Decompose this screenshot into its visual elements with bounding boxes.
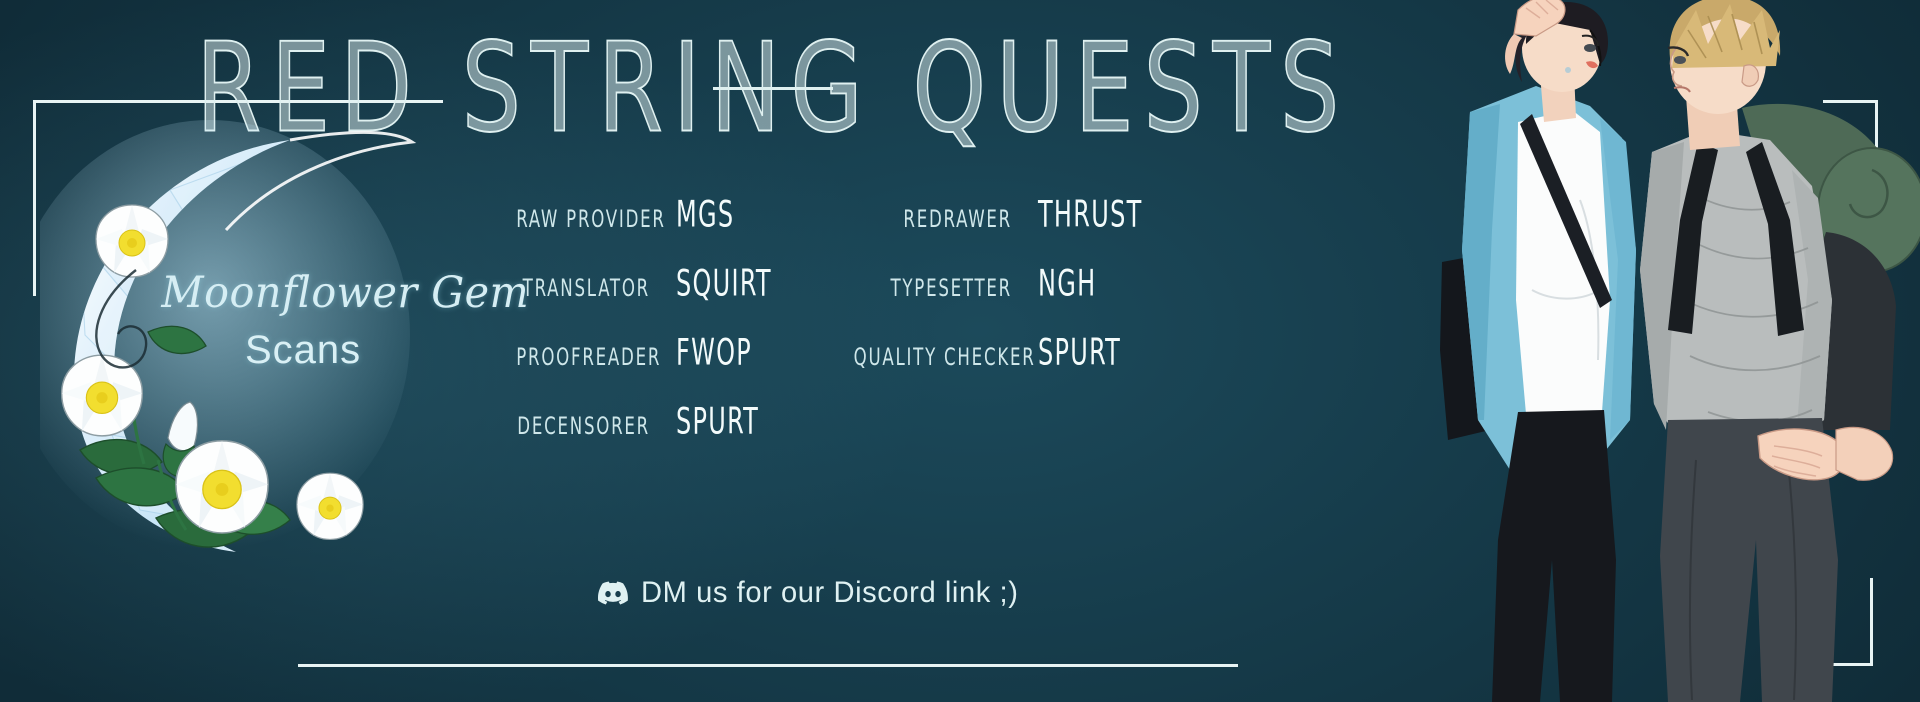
credit-role: REDRAWER xyxy=(854,205,1012,233)
frame-bottom-horizontal-rule xyxy=(298,664,1238,667)
dark-haired-character xyxy=(1440,0,1636,702)
discord-invite[interactable]: DM us for our Discord link ;) xyxy=(598,576,1030,610)
blond-character xyxy=(1640,0,1920,702)
credit-name: NGH xyxy=(1038,263,1096,305)
credit-role: QUALITY CHECKER xyxy=(854,343,1012,371)
discord-text[interactable]: DM us for our Discord link ;) xyxy=(641,576,1018,610)
credit-role: DECENSORER xyxy=(516,412,650,440)
credit-role: PROOFREADER xyxy=(516,343,650,371)
character-artwork xyxy=(1440,0,1920,702)
credit-name: SPURT xyxy=(1038,332,1121,374)
discord-icon[interactable] xyxy=(598,578,628,608)
credit-row: REDRAWER THRUST xyxy=(832,200,1452,236)
logo-subtitle: Scans xyxy=(245,328,361,373)
credit-name: SPURT xyxy=(676,401,759,443)
logo-name: Moonflower Gem xyxy=(161,272,468,315)
credits-column-right: REDRAWER THRUST TYPESETTER NGH QUALITY C… xyxy=(832,200,1452,407)
two-characters-illustration xyxy=(1440,0,1920,702)
credit-name: MGS xyxy=(676,194,734,236)
credit-name: SQUIRT xyxy=(676,263,772,305)
title-dash-right-icon xyxy=(725,87,820,90)
credit-row: QUALITY CHECKER SPURT xyxy=(832,338,1452,374)
credit-role: RAW PROVIDER xyxy=(516,205,650,233)
credit-role: TYPESETTER xyxy=(854,274,1012,302)
credit-role: TRANSLATOR xyxy=(516,274,650,302)
credit-name: FWOP xyxy=(676,332,752,374)
scanlation-logo: Moonflower Gem Scans xyxy=(40,120,460,560)
credit-row: DECENSORER SPURT xyxy=(498,407,1138,443)
credit-row: TYPESETTER NGH xyxy=(832,269,1452,305)
credits-banner: RED STRING QUESTS xyxy=(0,0,1920,702)
credit-name: THRUST xyxy=(1038,194,1143,236)
